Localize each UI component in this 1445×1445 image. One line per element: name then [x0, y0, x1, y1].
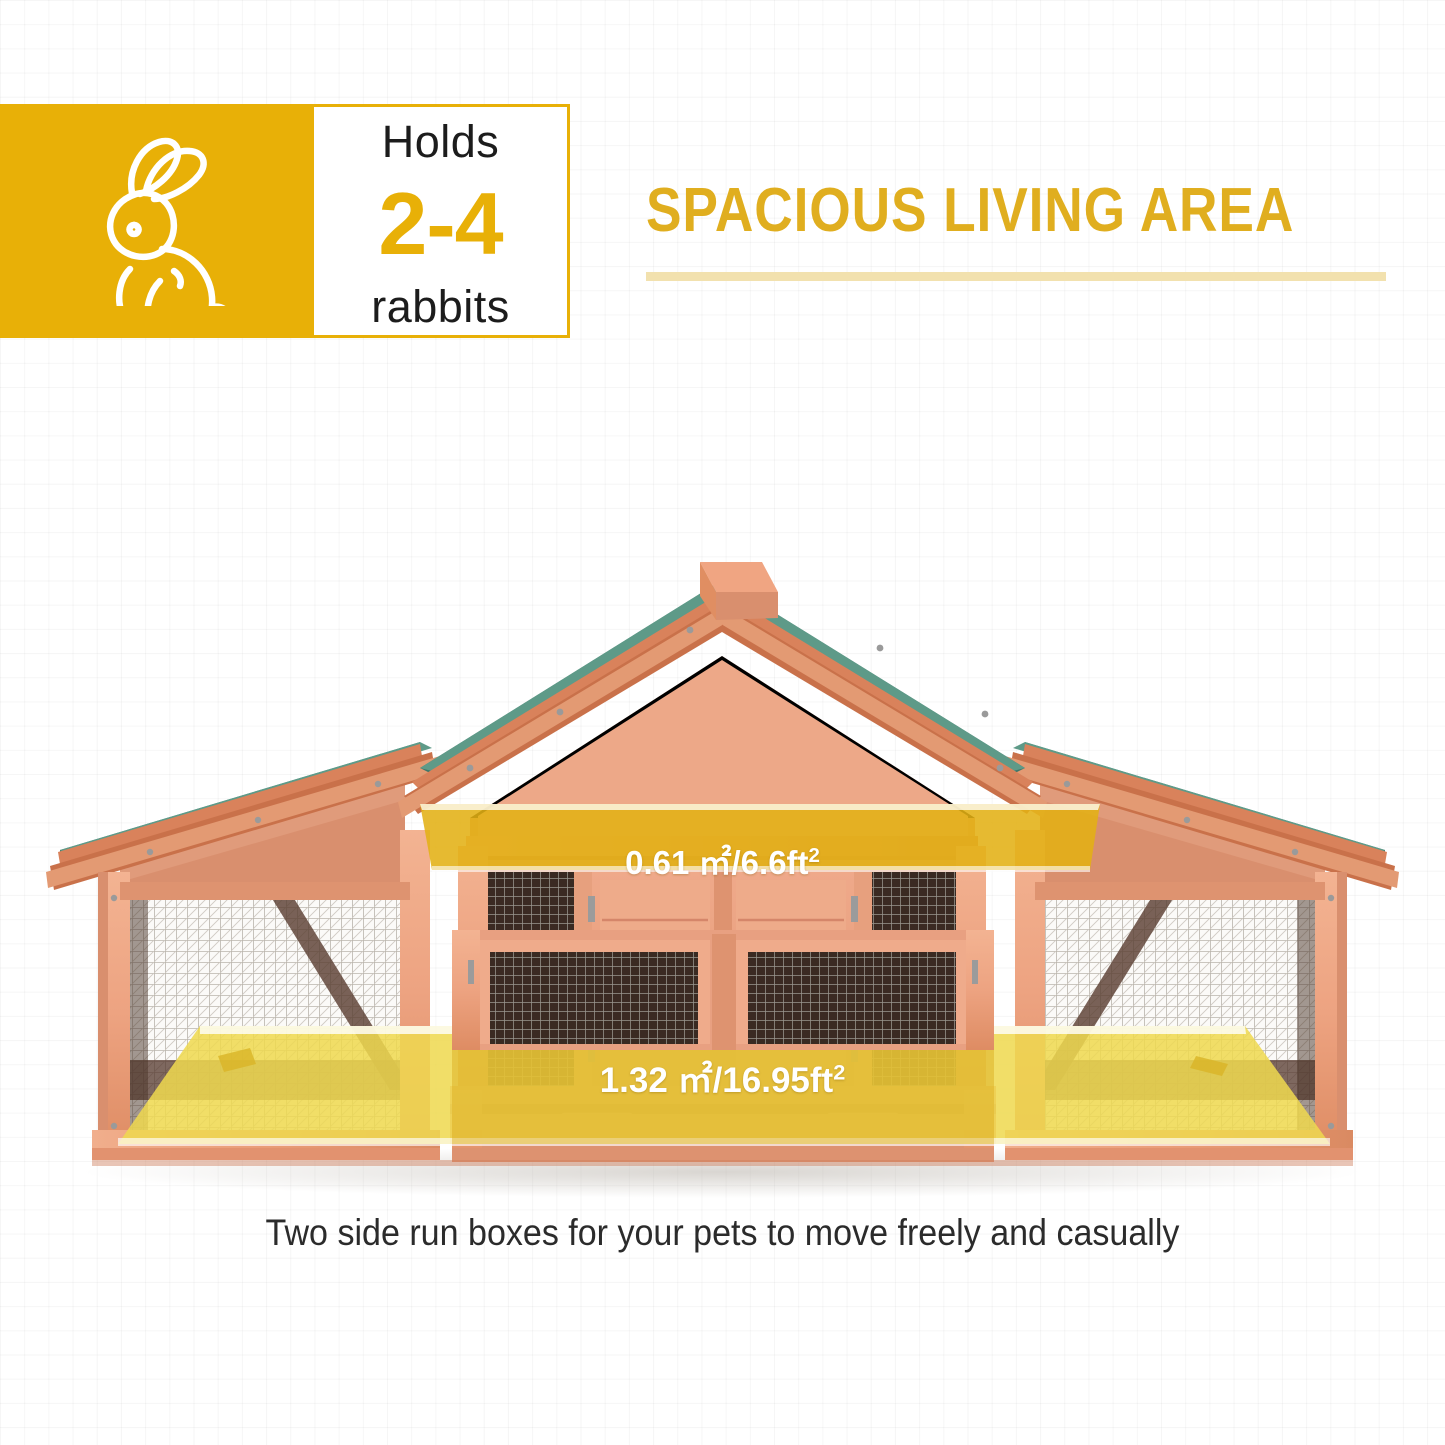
badge-line-rabbits: rabbits: [371, 284, 510, 329]
badge-icon-panel: [0, 104, 314, 338]
page-title: SPACIOUS LIVING AREA: [646, 180, 1300, 242]
lower-area-label: 1.32 ㎡/16.95ft2: [0, 1052, 1445, 1103]
badge-line-holds: Holds: [382, 119, 500, 164]
badge-text-panel: Holds 2-4 rabbits: [314, 104, 570, 338]
lower-mesh-doors: [0, 930, 1445, 1050]
rabbit-icon: [62, 131, 252, 311]
badge-capacity-count: 2-4: [378, 180, 502, 268]
headline-block: SPACIOUS LIVING AREA: [646, 180, 1406, 281]
product-caption: Two side run boxes for your pets to move…: [58, 1212, 1387, 1254]
headline-underline: [646, 272, 1386, 281]
capacity-badge: Holds 2-4 rabbits: [0, 104, 570, 338]
upper-area-label: 0.61 ㎡/6.6ft2: [0, 836, 1445, 884]
